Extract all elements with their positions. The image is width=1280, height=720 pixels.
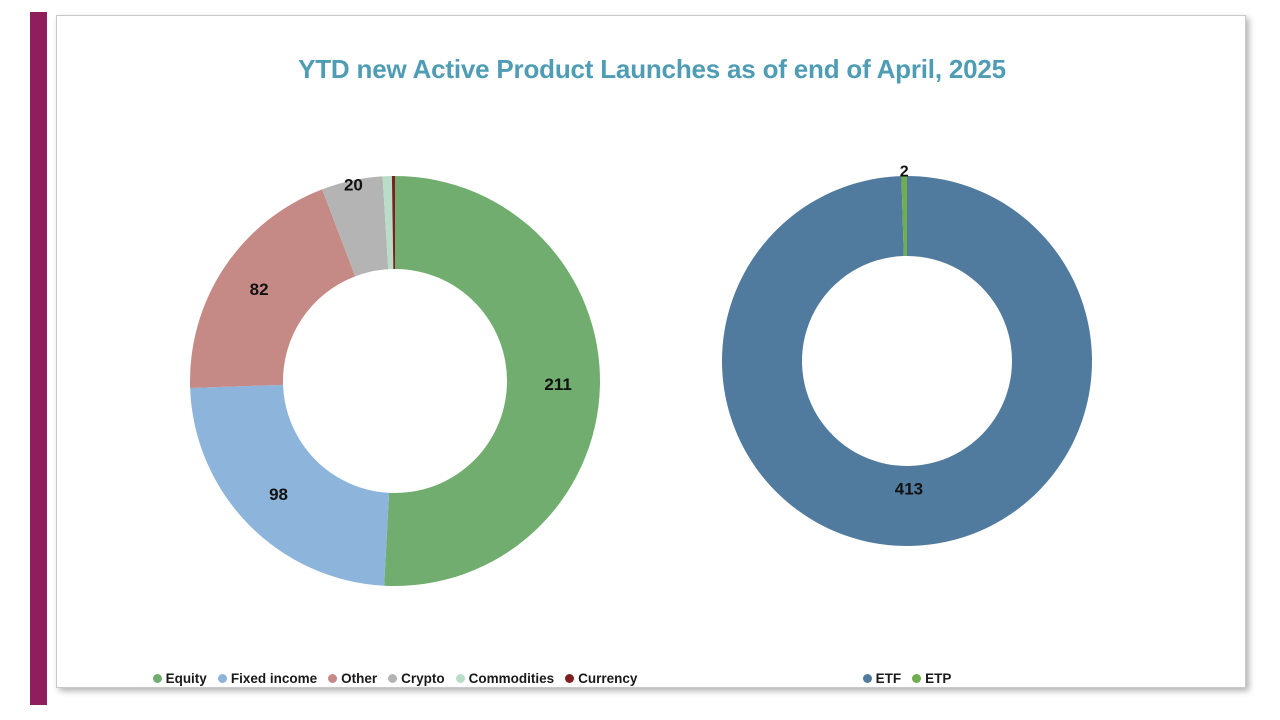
legend-label: Currency: [578, 671, 637, 686]
donut-chart-asset-class: 2119882203: [145, 161, 645, 601]
legend-swatch-icon: [456, 674, 465, 683]
legend-label: Other: [341, 671, 377, 686]
legend-item-other[interactable]: Other: [328, 671, 377, 686]
legend-item-etp[interactable]: ETP: [912, 671, 951, 686]
legend-item-currency[interactable]: Currency: [565, 671, 637, 686]
slice-value-label: 98: [269, 485, 288, 504]
slice-value-label: 211: [544, 375, 571, 394]
legend-label: Commodities: [469, 671, 555, 686]
donut-chart-structure: 4132: [657, 161, 1157, 561]
legend-item-etf[interactable]: ETF: [863, 671, 902, 686]
legend-item-commodities[interactable]: Commodities: [456, 671, 555, 686]
slice-value-label: 82: [250, 280, 269, 299]
accent-bar: [30, 12, 47, 705]
donut-svg-right: 4132: [707, 161, 1107, 561]
legend-item-equity[interactable]: Equity: [153, 671, 207, 686]
donut-slice-fixed-income[interactable]: [190, 385, 389, 586]
legend-label: ETP: [925, 671, 951, 686]
legend-swatch-icon: [388, 674, 397, 683]
legend-item-fixed-income[interactable]: Fixed income: [218, 671, 317, 686]
donut-svg-left: 2119882203: [175, 161, 615, 601]
legend-label: Equity: [166, 671, 207, 686]
slice-value-label: 413: [895, 479, 923, 498]
legend-swatch-icon: [863, 674, 872, 683]
legend-swatch-icon: [565, 674, 574, 683]
legend-asset-class: EquityFixed incomeOtherCryptoCommodities…: [145, 671, 645, 686]
legend-label: Crypto: [401, 671, 445, 686]
legend-swatch-icon: [328, 674, 337, 683]
legend-swatch-icon: [912, 674, 921, 683]
slide-canvas: YTD new Active Product Launches as of en…: [0, 0, 1280, 720]
legend-swatch-icon: [153, 674, 162, 683]
donut-slice-other[interactable]: [190, 189, 355, 388]
chart-card: YTD new Active Product Launches as of en…: [56, 15, 1246, 688]
legend-structure: ETFETP: [657, 671, 1157, 686]
page-title: YTD new Active Product Launches as of en…: [57, 54, 1247, 85]
legend-item-crypto[interactable]: Crypto: [388, 671, 445, 686]
slice-value-label: 3: [386, 161, 395, 162]
legend-label: ETF: [876, 671, 902, 686]
slice-value-label: 20: [344, 175, 363, 194]
legend-swatch-icon: [218, 674, 227, 683]
slice-value-label: 2: [900, 164, 909, 181]
legend-label: Fixed income: [231, 671, 317, 686]
